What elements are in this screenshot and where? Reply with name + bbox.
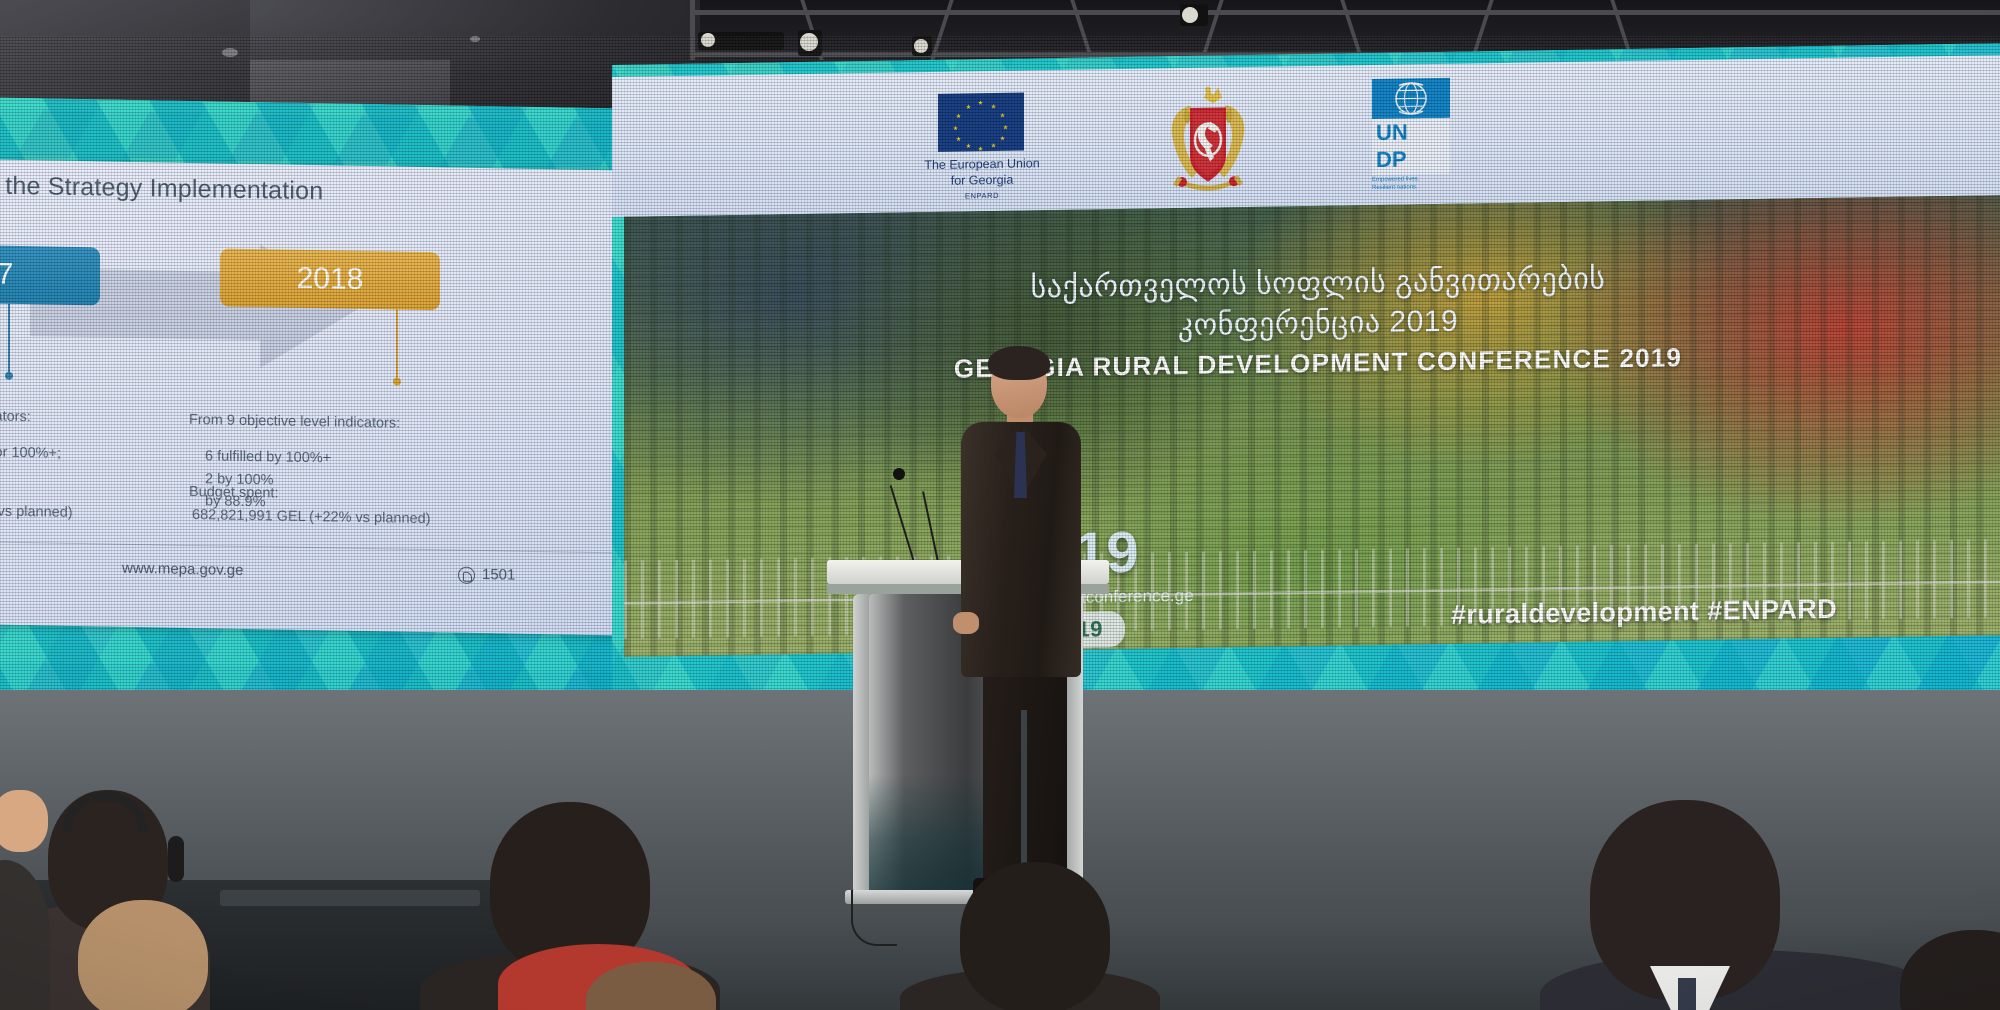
undp-lettermark: UN DP [1372,118,1450,175]
budget-spent-heading: Budget spent: [189,481,279,505]
led-panel-right: The European Union for Georgia ENPARD [612,43,2000,737]
left-indicator-column: r level indicators: d by 100% or 100%+; … [0,404,61,510]
left-column-line: d by 100% or 100%+; [0,441,61,466]
right-column-heading: From 9 objective level indicators: [189,409,400,435]
screenshot-root: ults of the Strategy Implementation 2017… [0,0,2000,1010]
right-budget-line: 682,821,991 GEL (+22% vs planned) [192,504,430,531]
timeline-dot-2017 [5,372,13,380]
eu-logo-caption: The European Union for Georgia [912,156,1052,189]
year-badge-2018: 2018 [220,248,440,310]
stage-light [1180,4,1208,26]
slide-title: ults of the Strategy Implementation [0,170,650,212]
enpard-label: ENPARD [912,190,1052,201]
left-budget-line: EL (+38.3% vs planned) [0,499,73,524]
slide-website: www.mepa.gov.ge [122,560,243,579]
left-column-line: d partially; [0,463,61,488]
eu-flag-icon [938,93,1024,152]
speaker [955,350,1085,920]
timeline-stem-2018 [396,310,398,380]
georgia-coat-of-arms-icon [1148,83,1268,197]
year-badge-2017: 2017 [0,243,100,305]
timeline-stem-2017 [8,304,10,374]
microphone-cable [851,890,897,946]
speaker-hair [988,346,1050,380]
slide-phone-number: 1501 [482,566,515,584]
audience-necktie [1678,978,1696,1010]
audience-head [960,862,1110,1010]
microphone-head-icon [893,468,905,480]
undp-logo-icon: UN DP Empowered lives. Resilient nations… [1372,78,1464,193]
left-column-heading: r level indicators: [0,404,61,429]
undp-tagline: Empowered lives. Resilient nations. [1372,175,1462,193]
riser-rail [220,890,480,906]
logo-banner: The European Union for Georgia ENPARD [612,55,2000,217]
timeline-dot-2018 [393,377,401,385]
partner-logos: The European Union for Georgia ENPARD [912,77,1532,197]
audience-head [78,900,208,1010]
phone-icon [458,567,475,584]
speaker-hand [953,612,979,634]
undp-globe-mark [1372,78,1450,119]
headphone-earcup-icon [168,836,184,882]
speaker-leg-gap [1021,710,1027,870]
audience-raised-hand [0,790,48,852]
